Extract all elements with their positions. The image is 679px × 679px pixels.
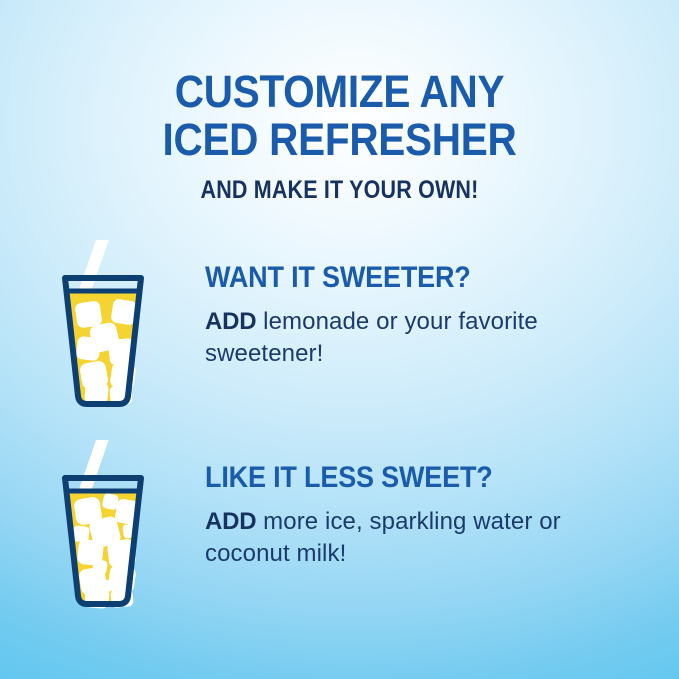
iced-drink-glass-icon	[47, 240, 159, 410]
glass-icon-cell-2	[0, 440, 205, 610]
tip-heading-less-sweet: LIKE IT LESS SWEET?	[205, 462, 632, 494]
tip-text-cell-1: WANT IT SWEETER? ADD lemonade or your fa…	[205, 240, 679, 370]
tip-body-emphasis-2: ADD	[205, 508, 256, 535]
page-title-line-2: ICED REFRESHER	[34, 116, 645, 164]
poster-canvas: CUSTOMIZE ANY ICED REFRESHER AND MAKE IT…	[0, 0, 679, 679]
tip-heading-sweeter: WANT IT SWEETER?	[205, 262, 632, 294]
iced-drink-glass-extra-ice-icon	[47, 440, 159, 610]
page-subtitle: AND MAKE IT YOUR OWN!	[48, 177, 632, 204]
header-block: CUSTOMIZE ANY ICED REFRESHER AND MAKE IT…	[0, 68, 679, 204]
tip-row-less-sweet: LIKE IT LESS SWEET? ADD more ice, sparkl…	[0, 440, 679, 610]
tip-text-cell-2: LIKE IT LESS SWEET? ADD more ice, sparkl…	[205, 440, 679, 570]
tip-row-sweeter: WANT IT SWEETER? ADD lemonade or your fa…	[0, 240, 679, 410]
tip-body-rest-2: more ice, sparkling water or coconut mil…	[205, 508, 561, 567]
tip-body-less-sweet: ADD more ice, sparkling water or coconut…	[205, 506, 605, 570]
tip-body-emphasis-1: ADD	[205, 308, 256, 335]
page-title-line-1: CUSTOMIZE ANY	[34, 68, 645, 116]
glass-icon-cell-1	[0, 240, 205, 410]
tip-body-sweeter: ADD lemonade or your favorite sweetener!	[205, 306, 605, 370]
